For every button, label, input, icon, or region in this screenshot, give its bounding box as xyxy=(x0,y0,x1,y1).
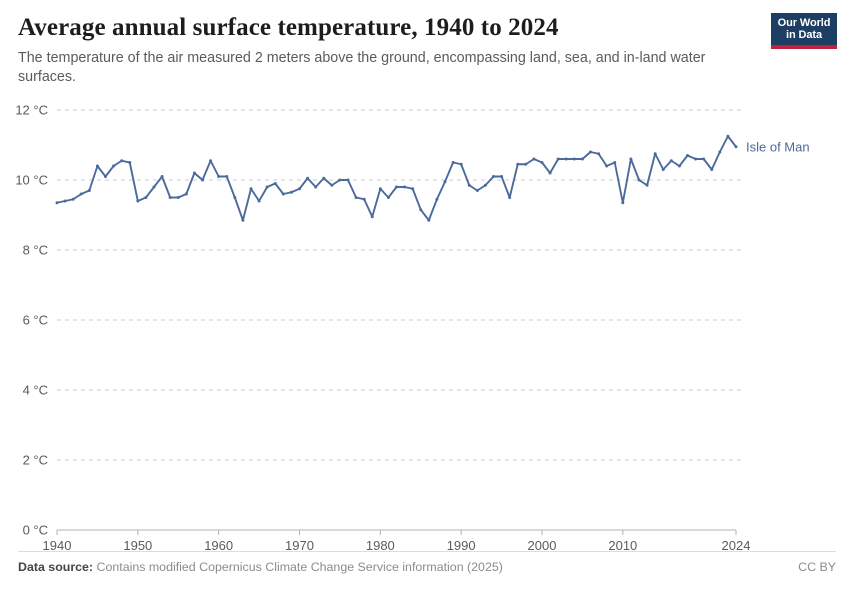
data-point[interactable] xyxy=(476,189,479,192)
data-point[interactable] xyxy=(371,215,374,218)
data-point[interactable] xyxy=(694,158,697,161)
y-axis-tick-label: 0 °C xyxy=(23,523,48,538)
data-point[interactable] xyxy=(314,186,317,189)
data-point[interactable] xyxy=(225,175,228,178)
data-point[interactable] xyxy=(64,200,67,203)
data-point[interactable] xyxy=(136,200,139,203)
data-point[interactable] xyxy=(233,196,236,199)
y-axis-tick-label: 10 °C xyxy=(15,173,48,188)
data-point[interactable] xyxy=(56,201,59,204)
x-axis xyxy=(57,530,736,535)
chart-plot-area[interactable]: 0 °C2 °C4 °C6 °C8 °C10 °C12 °C 194019501… xyxy=(0,96,850,556)
data-point[interactable] xyxy=(209,159,212,162)
y-axis-tick-label: 12 °C xyxy=(15,103,48,118)
y-axis-tick-label: 8 °C xyxy=(23,243,48,258)
data-point[interactable] xyxy=(662,168,665,171)
data-point[interactable] xyxy=(444,180,447,183)
data-point[interactable] xyxy=(96,165,99,168)
data-point[interactable] xyxy=(274,182,277,185)
data-point[interactable] xyxy=(500,175,503,178)
data-point[interactable] xyxy=(363,198,366,201)
data-point[interactable] xyxy=(144,196,147,199)
series-label-isle-of-man: Isle of Man xyxy=(746,139,810,154)
data-point[interactable] xyxy=(193,172,196,175)
data-point[interactable] xyxy=(112,165,115,168)
data-point[interactable] xyxy=(169,196,172,199)
line-chart-svg: 0 °C2 °C4 °C6 °C8 °C10 °C12 °C 194019501… xyxy=(0,96,850,556)
data-point[interactable] xyxy=(322,177,325,180)
data-point[interactable] xyxy=(678,165,681,168)
owid-logo-line1: Our World xyxy=(771,17,837,29)
chart-page: Average annual surface temperature, 1940… xyxy=(0,0,850,600)
data-point[interactable] xyxy=(306,177,309,180)
data-point[interactable] xyxy=(298,187,301,190)
data-point[interactable] xyxy=(605,165,608,168)
data-point[interactable] xyxy=(80,193,83,196)
data-point[interactable] xyxy=(72,198,75,201)
data-point[interactable] xyxy=(646,184,649,187)
data-point[interactable] xyxy=(128,161,131,164)
data-point[interactable] xyxy=(387,196,390,199)
data-point[interactable] xyxy=(355,196,358,199)
data-point[interactable] xyxy=(435,198,438,201)
data-point[interactable] xyxy=(282,193,285,196)
data-source-text: Contains modified Copernicus Climate Cha… xyxy=(97,560,503,574)
data-point[interactable] xyxy=(654,152,657,155)
data-point[interactable] xyxy=(686,154,689,157)
data-point[interactable] xyxy=(549,172,552,175)
data-point[interactable] xyxy=(452,161,455,164)
data-point[interactable] xyxy=(290,191,293,194)
chart-subtitle: The temperature of the air measured 2 me… xyxy=(18,49,730,87)
data-point[interactable] xyxy=(347,179,350,182)
data-point[interactable] xyxy=(338,179,341,182)
license-label[interactable]: CC BY xyxy=(798,560,836,574)
owid-logo[interactable]: Our World in Data xyxy=(771,13,837,49)
data-point[interactable] xyxy=(379,187,382,190)
data-point[interactable] xyxy=(581,158,584,161)
data-point[interactable] xyxy=(573,158,576,161)
owid-logo-line2: in Data xyxy=(771,29,837,41)
data-source-label: Data source: xyxy=(18,560,93,574)
data-point[interactable] xyxy=(492,175,495,178)
gridlines xyxy=(57,110,742,460)
data-point[interactable] xyxy=(403,186,406,189)
data-point[interactable] xyxy=(217,175,220,178)
data-point[interactable] xyxy=(201,179,204,182)
data-point[interactable] xyxy=(508,196,511,199)
data-point[interactable] xyxy=(484,184,487,187)
y-axis-tick-label: 2 °C xyxy=(23,453,48,468)
data-point[interactable] xyxy=(419,208,422,211)
data-point[interactable] xyxy=(557,158,560,161)
series-endpoint-label: Isle of Man xyxy=(746,139,810,154)
data-point[interactable] xyxy=(411,187,414,190)
data-point[interactable] xyxy=(565,158,568,161)
data-point[interactable] xyxy=(726,135,729,138)
data-point[interactable] xyxy=(88,189,91,192)
data-point[interactable] xyxy=(241,219,244,222)
chart-header: Average annual surface temperature, 1940… xyxy=(18,14,758,87)
data-point[interactable] xyxy=(153,186,156,189)
data-point[interactable] xyxy=(330,184,333,187)
data-point[interactable] xyxy=(589,151,592,154)
data-point[interactable] xyxy=(541,161,544,164)
data-point[interactable] xyxy=(185,193,188,196)
data-point[interactable] xyxy=(524,163,527,166)
data-point[interactable] xyxy=(104,175,107,178)
y-axis-tick-label: 6 °C xyxy=(23,313,48,328)
data-point[interactable] xyxy=(266,186,269,189)
data-point[interactable] xyxy=(621,201,624,204)
data-point[interactable] xyxy=(258,200,261,203)
data-source: Data source: Contains modified Copernicu… xyxy=(18,560,503,574)
data-point[interactable] xyxy=(250,187,253,190)
data-point[interactable] xyxy=(427,219,430,222)
y-axis-tick-label: 4 °C xyxy=(23,383,48,398)
data-point[interactable] xyxy=(710,168,713,171)
data-point[interactable] xyxy=(516,163,519,166)
data-point[interactable] xyxy=(613,161,616,164)
data-point[interactable] xyxy=(638,179,641,182)
data-point[interactable] xyxy=(718,151,721,154)
data-point[interactable] xyxy=(702,158,705,161)
data-point[interactable] xyxy=(670,159,673,162)
series-line[interactable] xyxy=(57,136,736,220)
data-point[interactable] xyxy=(532,158,535,161)
data-point[interactable] xyxy=(161,175,164,178)
data-point[interactable] xyxy=(629,158,632,161)
data-point[interactable] xyxy=(177,196,180,199)
data-point[interactable] xyxy=(120,159,123,162)
y-axis-tick-labels: 0 °C2 °C4 °C6 °C8 °C10 °C12 °C xyxy=(15,103,48,538)
data-point[interactable] xyxy=(735,145,738,148)
data-point[interactable] xyxy=(597,152,600,155)
data-point[interactable] xyxy=(468,184,471,187)
data-point[interactable] xyxy=(395,186,398,189)
page-title: Average annual surface temperature, 1940… xyxy=(18,14,758,42)
data-series-isle-of-man[interactable] xyxy=(56,135,738,222)
data-point[interactable] xyxy=(460,163,463,166)
chart-footer: Data source: Contains modified Copernicu… xyxy=(18,551,836,586)
